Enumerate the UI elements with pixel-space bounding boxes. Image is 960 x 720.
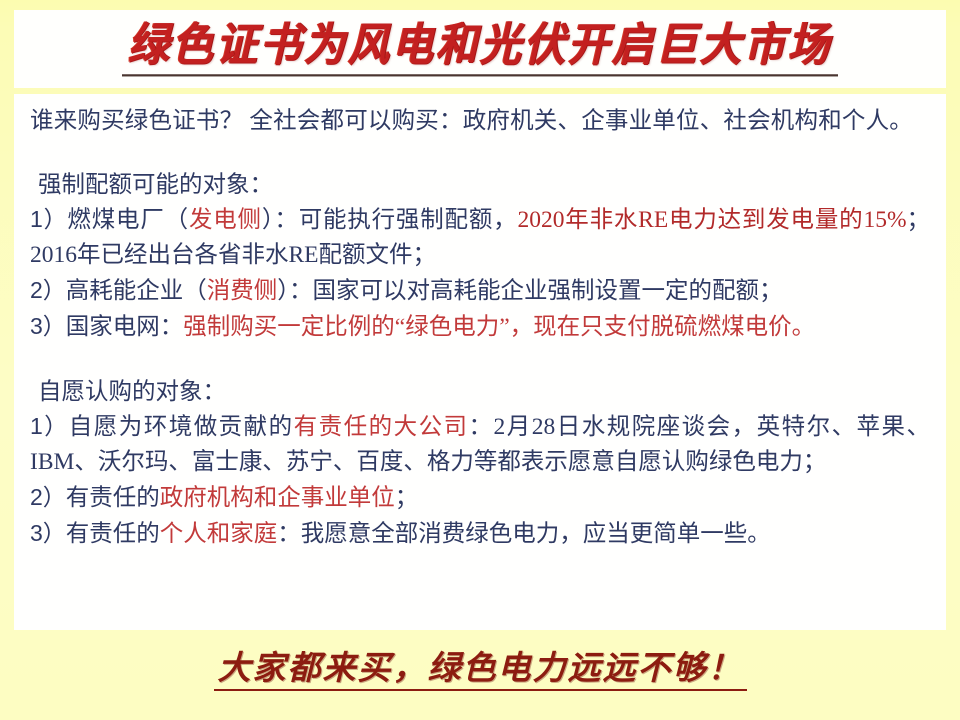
slide-root: 绿色证书为风电和光伏开启巨大市场 谁来购买绿色证书？ 全社会都可以购买：政府机关… (0, 0, 960, 720)
mandatory-item-1-lead2: ）：可能执行强制配额， (262, 207, 518, 233)
page-title: 绿色证书为风电和光伏开启巨大市场 (122, 22, 838, 76)
mandatory-item-3: 3）国家电网：强制购买一定比例的“绿色电力”，现在只支付脱硫燃煤电价。 (30, 309, 930, 345)
mandatory-item-3-lead: 国家电网： (66, 314, 184, 340)
voluntary-item-3-marker: 3） (30, 520, 66, 546)
mandatory-item-2-marker: 2） (30, 277, 66, 303)
mandatory-item-2-redtag: 消费侧 (207, 278, 278, 304)
voluntary-item-3-tail: ：我愿意全部消费绿色电力，应当更简单一些。 (277, 521, 771, 547)
mandatory-item-1: 1）燃煤电厂（发电侧）：可能执行强制配额，2020年非水RE电力达到发电量的15… (30, 202, 930, 273)
voluntary-item-2-tail: ； (395, 485, 419, 511)
spacer-1 (30, 138, 930, 168)
mandatory-item-2-lead: 高耗能企业（ (66, 278, 207, 304)
mandatory-item-2-lead2: ）：国家可以对高耗能企业强制设置一定的配额； (277, 278, 782, 304)
voluntary-item-1-redtag: 有责任的大公司 (294, 414, 469, 440)
intro-question: 谁来购买绿色证书？ (30, 108, 243, 134)
intro-answer: 全社会都可以购买：政府机关、企事业单位、社会机构和个人。 (249, 108, 913, 134)
voluntary-item-3-redtag: 个人和家庭 (160, 521, 278, 547)
mandatory-item-3-emphasis: 强制购买一定比例的“绿色电力”，现在只支付脱硫燃煤电价。 (183, 314, 815, 340)
section-mandatory-heading: 强制配额可能的对象： (30, 168, 930, 202)
section-voluntary-heading: 自愿认购的对象： (30, 375, 930, 409)
section-voluntary: 自愿认购的对象： 1）自愿为环境做贡献的有责任的大公司：2月28日水规院座谈会，… (30, 375, 930, 552)
voluntary-item-2-marker: 2） (30, 484, 66, 510)
section-mandatory: 强制配额可能的对象： 1）燃煤电厂（发电侧）：可能执行强制配额，2020年非水R… (30, 168, 930, 345)
voluntary-item-3: 3）有责任的个人和家庭：我愿意全部消费绿色电力，应当更简单一些。 (30, 516, 930, 552)
footer-band: 大家都来买，绿色电力远远不够！ (14, 634, 946, 708)
mandatory-item-1-emphasis: 2020年非水RE电力达到发电量的15% (517, 207, 906, 233)
mandatory-item-1-lead: 燃煤电厂（ (67, 207, 189, 233)
mandatory-item-2: 2）高耗能企业（消费侧）：国家可以对高耗能企业强制设置一定的配额； (30, 273, 930, 309)
spacer-2 (30, 345, 930, 375)
voluntary-item-1-lead: 自愿为环境做贡献的 (69, 414, 294, 440)
voluntary-item-1: 1）自愿为环境做贡献的有责任的大公司：2月28日水规院座谈会，英特尔、苹果、IB… (30, 409, 930, 480)
footer-slogan: 大家都来买，绿色电力远远不够！ (214, 651, 747, 691)
voluntary-item-2-lead: 有责任的 (66, 485, 160, 511)
voluntary-item-2-redtag: 政府机构和企事业单位 (160, 485, 395, 511)
mandatory-item-1-marker: 1） (30, 206, 67, 232)
voluntary-item-2: 2）有责任的政府机构和企事业单位； (30, 480, 930, 516)
voluntary-item-3-lead: 有责任的 (66, 521, 160, 547)
mandatory-item-1-redtag: 发电侧 (189, 207, 262, 233)
intro-line: 谁来购买绿色证书？ 全社会都可以购买：政府机关、企事业单位、社会机构和个人。 (30, 104, 930, 138)
mandatory-item-3-marker: 3） (30, 313, 66, 339)
title-band: 绿色证书为风电和光伏开启巨大市场 (14, 10, 946, 88)
content-area: 谁来购买绿色证书？ 全社会都可以购买：政府机关、企事业单位、社会机构和个人。 强… (14, 94, 946, 630)
intro-paragraph: 谁来购买绿色证书？ 全社会都可以购买：政府机关、企事业单位、社会机构和个人。 (30, 104, 930, 138)
voluntary-item-1-marker: 1） (30, 413, 69, 439)
